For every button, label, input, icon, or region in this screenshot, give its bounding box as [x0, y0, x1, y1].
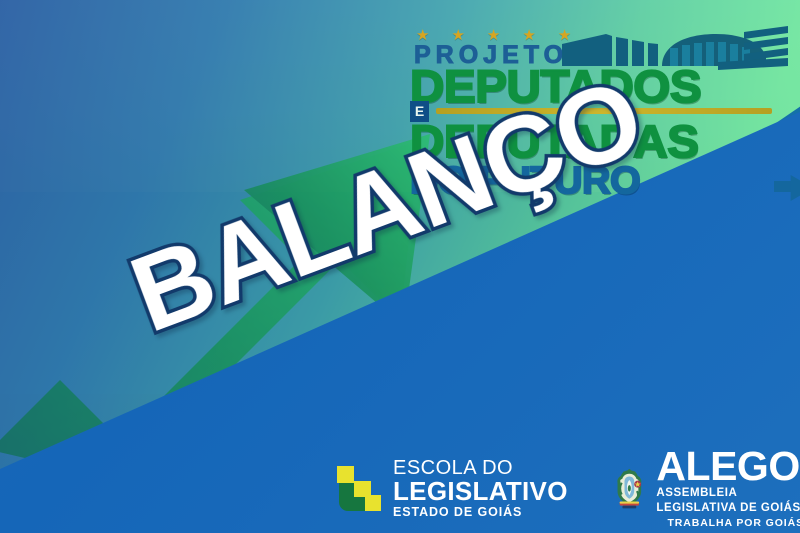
promo-banner: ★ ★ ★ ★ ★ PROJETO DEPUTADOS E DEPUTADAS … — [0, 0, 800, 533]
alego-line-2: ASSEMBLEIA LEGISLATIVA DE GOIÁS — [656, 486, 800, 517]
alego-line-3: TRABALHA POR GOIÁS — [656, 517, 800, 531]
alego-logo-text: ALEGO ASSEMBLEIA LEGISLATIVA DE GOIÁS TR… — [656, 448, 800, 530]
goias-coat-of-arms-icon — [612, 458, 647, 520]
escola-line-1: ESCOLA DO — [393, 458, 568, 478]
escola-line-3: ESTADO DE GOIÁS — [393, 505, 568, 521]
escola-legislativo-logo: ESCOLA DO LEGISLATIVO ESTADO DE GOIÁS — [336, 458, 568, 521]
footer-logos: ESCOLA DO LEGISLATIVO ESTADO DE GOIÁS — [336, 448, 800, 530]
escola-logo-text: ESCOLA DO LEGISLATIVO ESTADO DE GOIÁS — [393, 458, 568, 521]
arrow-right-icon — [791, 175, 800, 201]
escola-legislativo-mark-icon — [336, 465, 382, 513]
escola-line-2: LEGISLATIVO — [393, 478, 568, 505]
alego-logo: ALEGO ASSEMBLEIA LEGISLATIVA DE GOIÁS TR… — [612, 448, 800, 530]
alego-line-1: ALEGO — [656, 448, 800, 486]
